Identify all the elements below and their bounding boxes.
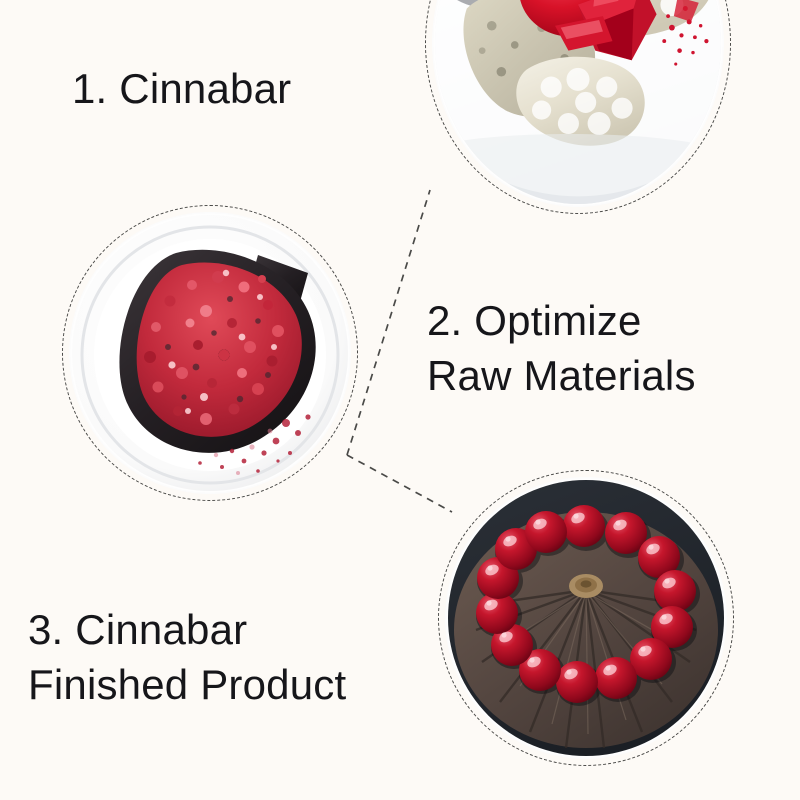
step-1-image-circle[interactable]	[425, 0, 731, 214]
connector-powder-to-ore	[347, 190, 430, 455]
step-2-image-circle[interactable]	[62, 205, 358, 501]
step-2-label: 2. Optimize Raw Materials	[427, 294, 696, 403]
cinnabar-powder-photo	[72, 215, 348, 491]
connector-powder-to-product	[347, 455, 452, 512]
cinnabar-bracelet-photo	[448, 480, 724, 756]
step-3-image-circle[interactable]	[438, 470, 734, 766]
cinnabar-ore-photo	[435, 0, 721, 204]
infographic-canvas: 1. Cinnabar 2. Optimize Raw Materials 3.…	[0, 0, 800, 800]
step-3-label: 3. Cinnabar Finished Product	[28, 603, 346, 712]
step-1-label: 1. Cinnabar	[72, 62, 291, 117]
